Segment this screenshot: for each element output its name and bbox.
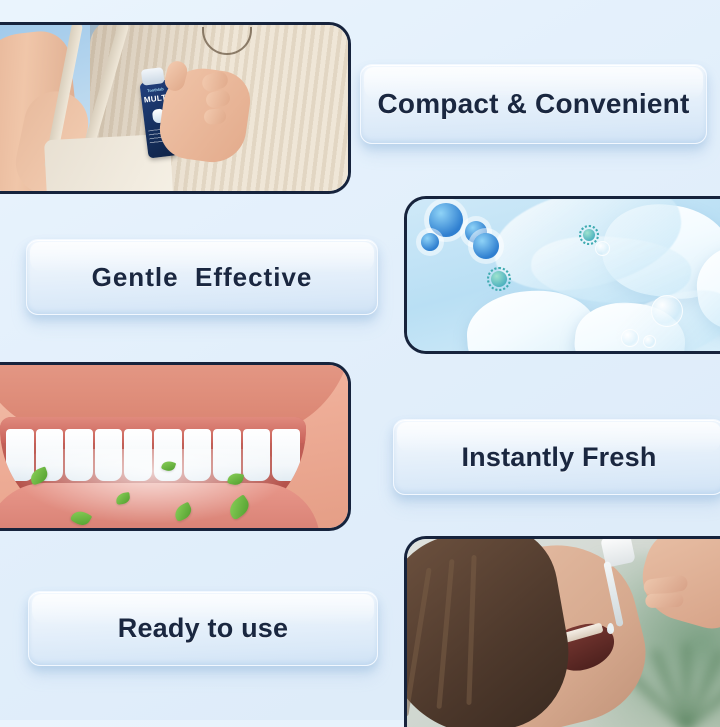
feature-label: Compact & Convenient <box>377 88 689 120</box>
water-scene <box>407 199 720 351</box>
feature-label: Instantly Fresh <box>461 442 656 473</box>
smile-scene <box>0 365 348 528</box>
bottle-scene: Toothlab MULTI <box>0 25 348 191</box>
feature-pill-ready-to-use[interactable]: Ready to use <box>28 591 378 666</box>
bubble-1 <box>651 295 683 327</box>
feature-grid-stage: Toothlab MULTI Compact & Convenient Gent… <box>0 0 720 720</box>
germ-particle-2 <box>583 229 595 241</box>
bubble-3 <box>643 335 656 348</box>
feature-pill-instantly-fresh[interactable]: Instantly Fresh <box>393 419 720 495</box>
bubble-4 <box>595 241 610 256</box>
feature-label: Ready to use <box>118 613 288 644</box>
feature-label: Gentle Effective <box>92 262 313 293</box>
feature-pill-compact-convenient[interactable]: Compact & Convenient <box>360 64 707 144</box>
blue-particle-4 <box>473 233 499 259</box>
spray-scene <box>407 539 720 727</box>
germ-particle-1 <box>491 271 507 287</box>
panel-fresh-smile[interactable] <box>0 362 351 531</box>
panel-teeth-water-render[interactable] <box>404 196 720 354</box>
blue-particle-1 <box>429 203 463 237</box>
feature-pill-gentle-effective[interactable]: Gentle Effective <box>26 239 378 315</box>
panel-spray-in-use[interactable] <box>404 536 720 727</box>
bubble-2 <box>621 329 639 347</box>
panel-bottle-in-hand[interactable]: Toothlab MULTI <box>0 22 351 194</box>
blue-particle-3 <box>421 233 439 251</box>
bottle-cap-icon <box>141 67 165 86</box>
liquid-drop <box>607 623 614 634</box>
